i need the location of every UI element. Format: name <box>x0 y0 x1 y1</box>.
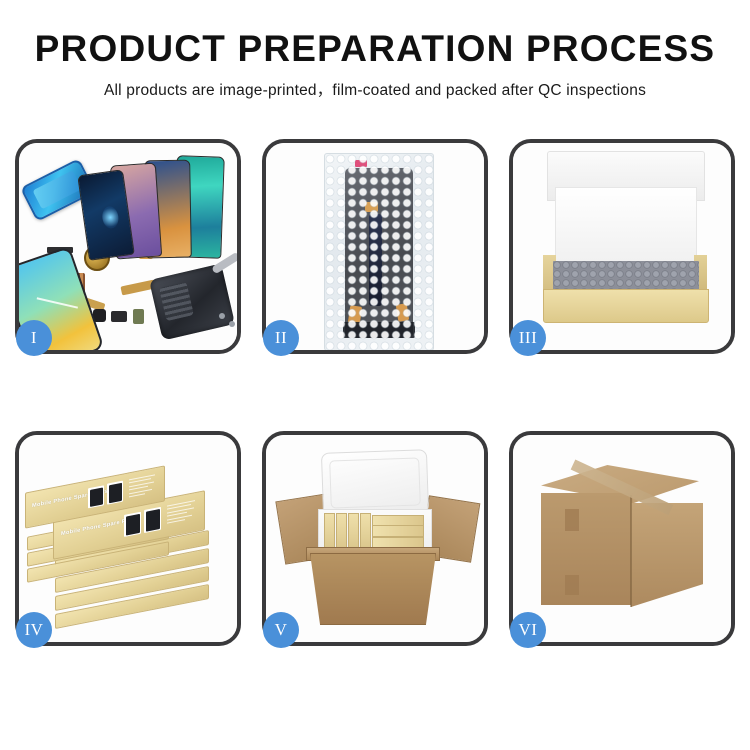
phone-back-housing-icon <box>149 263 235 340</box>
foam-sheet <box>555 187 697 267</box>
step-panel-v: V <box>262 431 488 646</box>
step-image-iv: Mobile Phone Spare Parts Mobile Phone Sp… <box>19 435 237 642</box>
step-image-ii <box>266 143 484 350</box>
carton-body <box>310 553 436 625</box>
product-preparation-infographic: PRODUCT PREPARATION PROCESS All products… <box>0 0 750 750</box>
step-image-i <box>19 143 237 350</box>
step-badge-iv: IV <box>16 612 52 648</box>
step-badge-vi: VI <box>510 612 546 648</box>
bubble-wrap-bag <box>324 153 434 350</box>
step-image-vi <box>513 435 731 642</box>
step-panel-ii: II <box>262 139 488 354</box>
carton-corner-edge <box>630 495 632 607</box>
box-window-screen <box>88 485 104 508</box>
phone-screens-fan <box>83 153 233 258</box>
carton-side-face <box>631 503 703 607</box>
step-image-iii <box>513 143 731 350</box>
page-title: PRODUCT PREPARATION PROCESS <box>0 30 750 69</box>
step-badge-v: V <box>263 612 299 648</box>
box-window-screen <box>107 481 123 505</box>
retail-box-stack: Mobile Phone Spare Parts Mobile Phone Sp… <box>25 453 237 639</box>
box-window-screen <box>144 507 161 533</box>
step-badge-i: I <box>16 320 52 356</box>
steps-grid: I II <box>15 139 735 646</box>
step-panel-i: I <box>15 139 241 354</box>
box-spec-lines <box>129 474 157 500</box>
screw-icon <box>219 313 225 319</box>
carton-flap-seam <box>565 509 579 531</box>
box-window-screen <box>124 512 141 537</box>
bubble-texture <box>325 154 433 350</box>
step-panel-vi: VI <box>509 431 735 646</box>
step-badge-ii: II <box>263 320 299 356</box>
carton-front-face <box>541 493 633 605</box>
box-spec-lines <box>167 500 197 526</box>
foam-lid <box>321 449 429 517</box>
carton-flap-seam <box>565 575 579 595</box>
header: PRODUCT PREPARATION PROCESS All products… <box>0 0 750 100</box>
step-badge-iii: III <box>510 320 546 356</box>
phone-parts-illustration <box>19 143 237 350</box>
page-subtitle: All products are image-printed，film-coat… <box>0 78 750 100</box>
step-panel-iv: Mobile Phone Spare Parts Mobile Phone Sp… <box>15 431 241 646</box>
sim-tray-icon <box>133 309 144 324</box>
step-panel-iii: III <box>509 139 735 354</box>
earpiece-speaker-icon <box>111 311 127 322</box>
step-image-v <box>266 435 484 642</box>
box-front-panel <box>543 289 709 323</box>
screw-icon <box>229 321 235 327</box>
